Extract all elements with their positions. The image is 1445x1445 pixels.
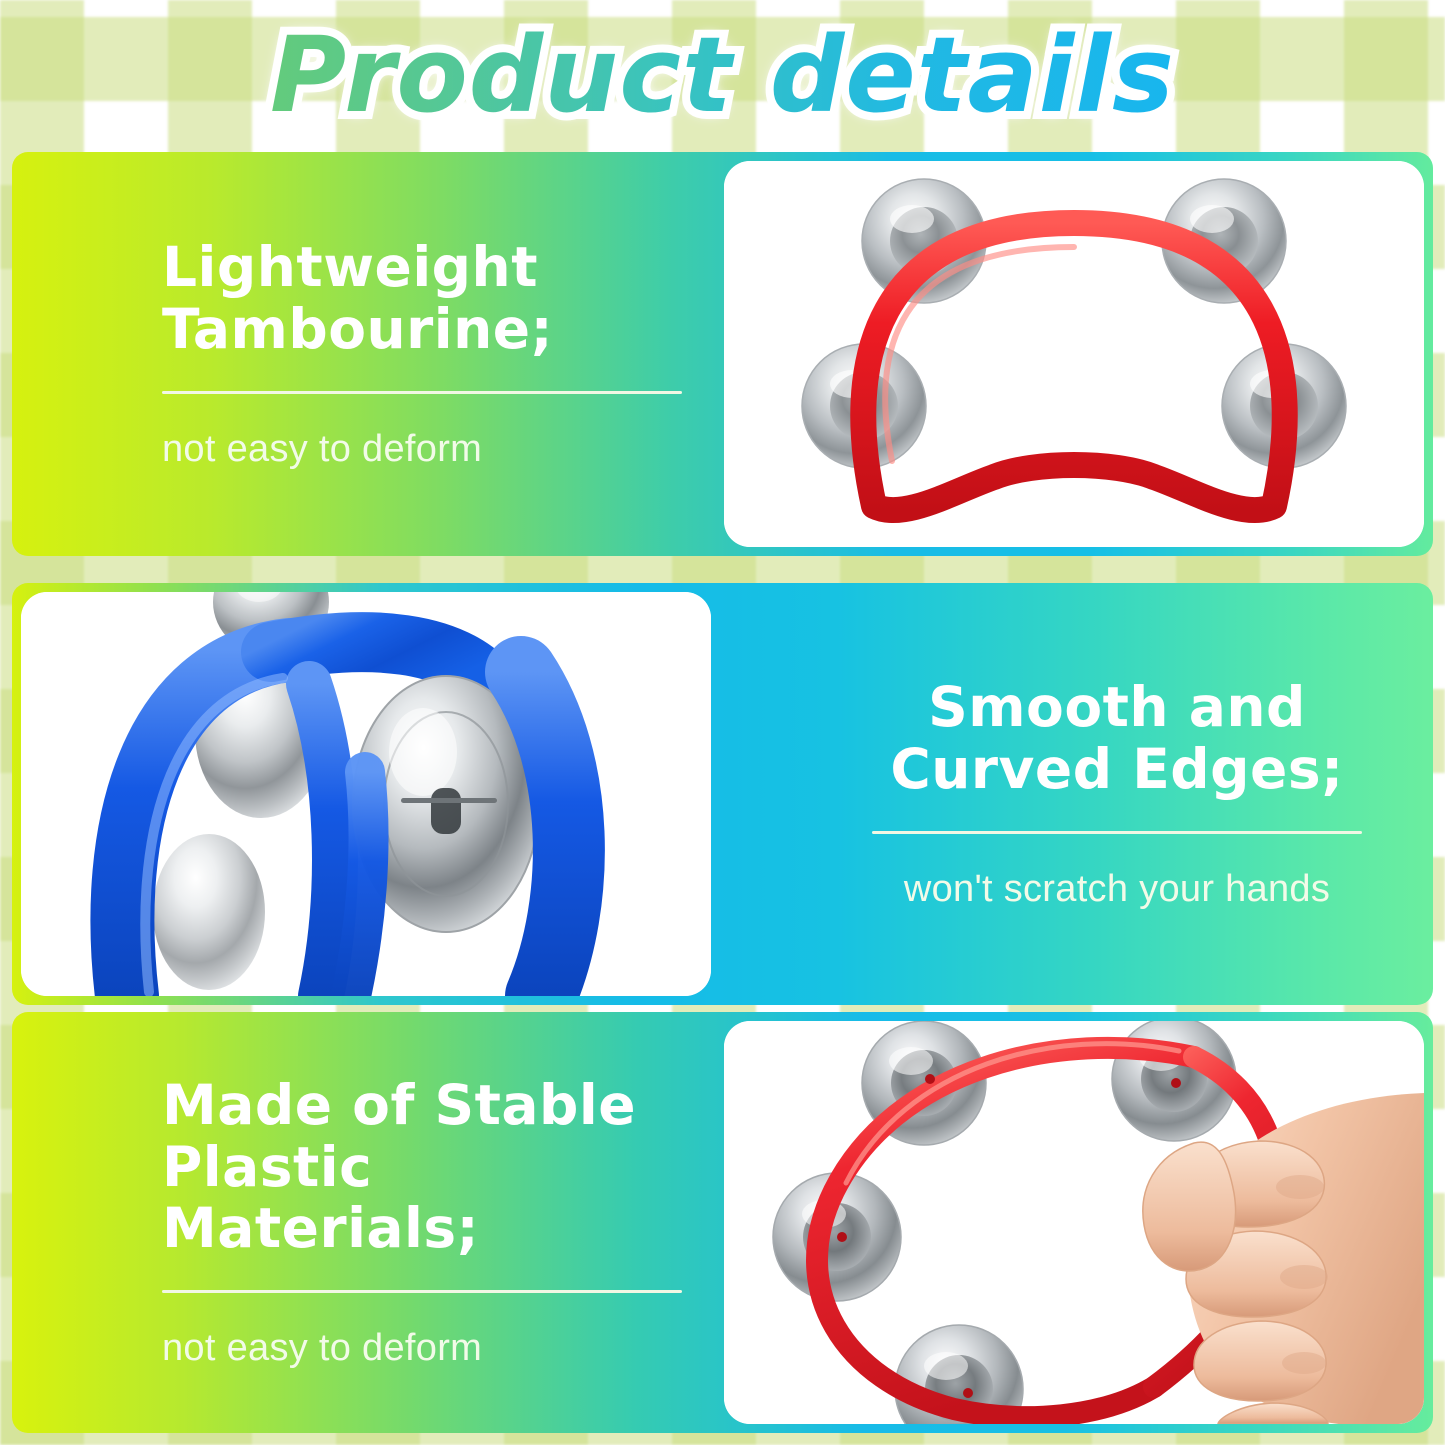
panel-1-divider xyxy=(162,391,682,394)
rivet xyxy=(837,1232,847,1242)
panel-2-headline: Smooth and Curved Edges; xyxy=(872,677,1362,800)
feature-panel-smooth-edges: Smooth and Curved Edges; won't scratch y… xyxy=(12,583,1433,1005)
panel-3-subline: not easy to deform xyxy=(162,1327,682,1370)
panel-3-headline: Made of Stable Plastic Materials; xyxy=(162,1075,682,1260)
hand-holding-red-tambourine-image xyxy=(724,1021,1424,1424)
rivet xyxy=(1171,1078,1181,1088)
blue-frame-front-rail xyxy=(351,772,369,996)
product-details-infographic: Product details Product details Lightwei… xyxy=(0,0,1445,1445)
panel-2-divider xyxy=(872,831,1362,834)
panel-1-image-card xyxy=(724,161,1424,547)
blue-tambourine-closeup-image xyxy=(21,592,711,996)
rivet xyxy=(925,1074,935,1084)
panel-2-image-card xyxy=(21,592,711,996)
knuckle-shade xyxy=(1282,1352,1326,1374)
knuckle-shade xyxy=(1280,1265,1328,1289)
panel-1-headline: Lightweight Tambourine; xyxy=(162,237,682,360)
red-tambourine-front-image xyxy=(724,161,1424,547)
blue-frame-inner-rail xyxy=(309,684,335,996)
page-title-text: Product details xyxy=(270,23,1175,127)
page-title: Product details Product details xyxy=(270,23,1175,127)
rivet xyxy=(963,1388,973,1398)
jingle-back-low xyxy=(153,834,265,990)
panel-2-subline: won't scratch your hands xyxy=(872,868,1362,911)
panel-1-text-block: Lightweight Tambourine; not easy to defo… xyxy=(162,152,682,556)
feature-panel-stable-plastic: Made of Stable Plastic Materials; not ea… xyxy=(12,1012,1433,1433)
page-header: Product details Product details xyxy=(0,0,1445,150)
panel-3-image-card xyxy=(724,1021,1424,1424)
panel-3-divider xyxy=(162,1290,682,1293)
feature-panel-lightweight: Lightweight Tambourine; not easy to defo… xyxy=(12,152,1433,556)
panel-1-subline: not easy to deform xyxy=(162,428,682,471)
panel-3-text-block: Made of Stable Plastic Materials; not ea… xyxy=(162,1012,682,1433)
knuckle-shade xyxy=(1276,1175,1324,1199)
panel-2-text-block: Smooth and Curved Edges; won't scratch y… xyxy=(872,583,1362,1005)
